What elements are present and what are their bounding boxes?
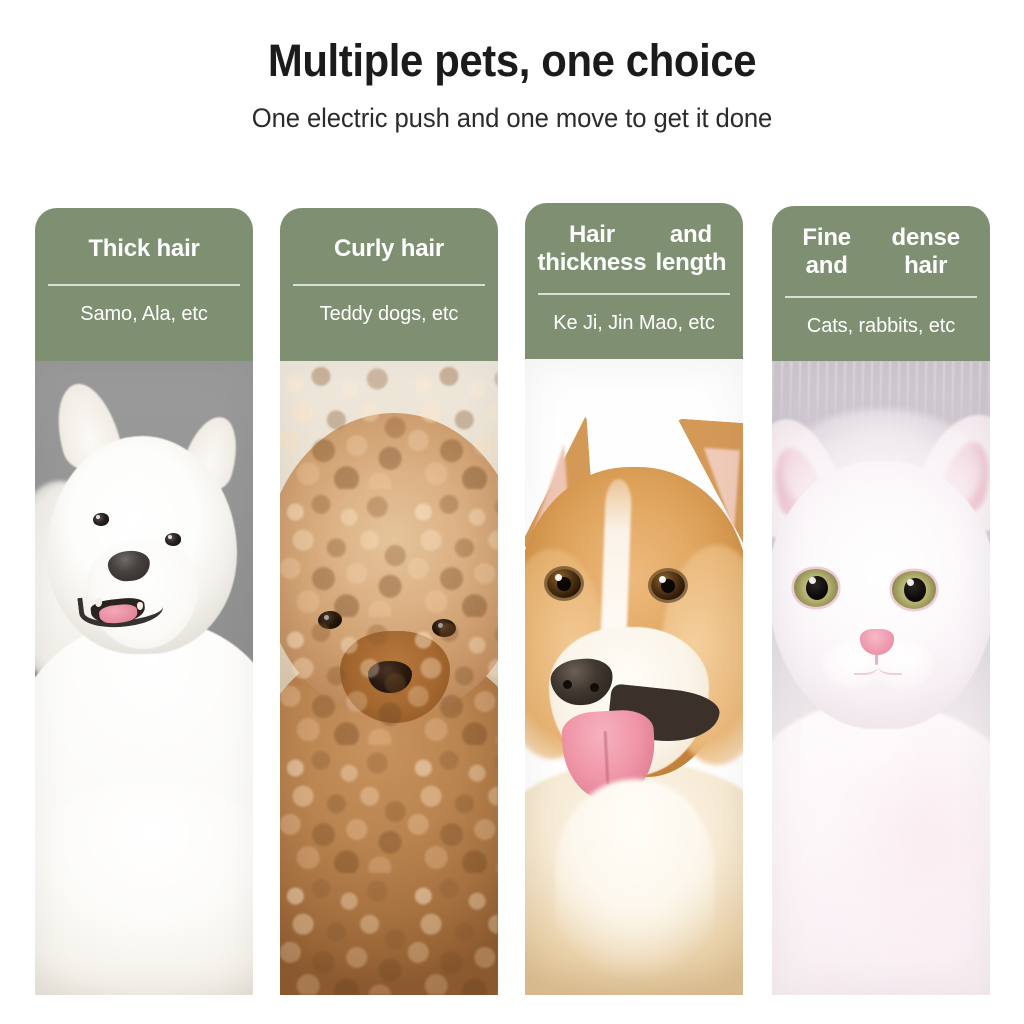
kitten-illustration	[772, 361, 990, 995]
samoyed-eye-highlight-left	[96, 515, 100, 519]
card-header: Hair thickness and length Ke Ji, Jin Mao…	[525, 203, 743, 359]
pet-category-card-hair-thickness-and-length[interactable]: Hair thickness and length Ke Ji, Jin Mao…	[525, 203, 743, 995]
card-photo-kitten	[772, 361, 990, 995]
teddy-dog-curly-fur-texture	[280, 361, 498, 995]
card-divider	[785, 296, 977, 298]
card-subtitle: Teddy dogs, etc	[320, 302, 459, 326]
card-title: Thick hair	[88, 234, 199, 264]
samoyed-eye-highlight-right	[168, 535, 172, 539]
corgi-eye-highlight-right	[659, 576, 666, 583]
card-title-line-2: and length	[649, 221, 733, 277]
page-title: Multiple pets, one choice	[36, 36, 988, 86]
samoyed-tooth-right	[137, 602, 143, 610]
samoyed-chest	[35, 781, 253, 995]
card-divider	[48, 284, 240, 286]
teddy-dog-illustration	[280, 361, 498, 995]
corgi-eye-highlight-left	[555, 574, 562, 581]
card-title-line-1: Hair thickness	[535, 221, 649, 277]
card-subtitle: Cats, rabbits, etc	[807, 314, 955, 338]
card-header: Fine and dense hair Cats, rabbits, etc	[772, 206, 990, 361]
card-photo-samoyed	[35, 361, 253, 995]
samoyed-illustration	[35, 361, 253, 995]
card-title: Fine and dense hair	[782, 224, 980, 280]
pet-category-card-curly-hair[interactable]: Curly hair Teddy dogs, etc	[280, 208, 498, 995]
card-photo-corgi	[525, 359, 743, 995]
kitten-pink-fur-wash	[772, 661, 990, 995]
samoyed-tooth-left	[95, 598, 102, 607]
card-title-line-1: Fine and	[782, 224, 871, 280]
corgi-chest-white-fur	[555, 779, 715, 995]
corgi-nostril-right	[590, 683, 599, 692]
page-header: Multiple pets, one choice One electric p…	[0, 0, 1024, 134]
pet-category-card-fine-and-dense-hair[interactable]: Fine and dense hair Cats, rabbits, etc	[772, 206, 990, 995]
card-title: Hair thickness and length	[535, 221, 733, 277]
card-divider	[538, 293, 730, 295]
card-header: Thick hair Samo, Ala, etc	[35, 208, 253, 361]
card-photo-teddy-dog	[280, 361, 498, 995]
card-title-line-2: dense hair	[871, 224, 980, 280]
pet-category-card-thick-hair[interactable]: Thick hair Samo, Ala, etc	[35, 208, 253, 995]
pet-category-cards: Thick hair Samo, Ala, etc	[0, 203, 1024, 993]
card-divider	[293, 284, 485, 286]
corgi-illustration	[525, 359, 743, 995]
card-subtitle: Samo, Ala, etc	[80, 302, 208, 326]
card-subtitle: Ke Ji, Jin Mao, etc	[553, 311, 715, 335]
corgi-nostril-left	[563, 680, 572, 689]
card-header: Curly hair Teddy dogs, etc	[280, 208, 498, 361]
card-title: Curly hair	[334, 234, 444, 264]
page-subtitle: One electric push and one move to get it…	[26, 103, 999, 134]
